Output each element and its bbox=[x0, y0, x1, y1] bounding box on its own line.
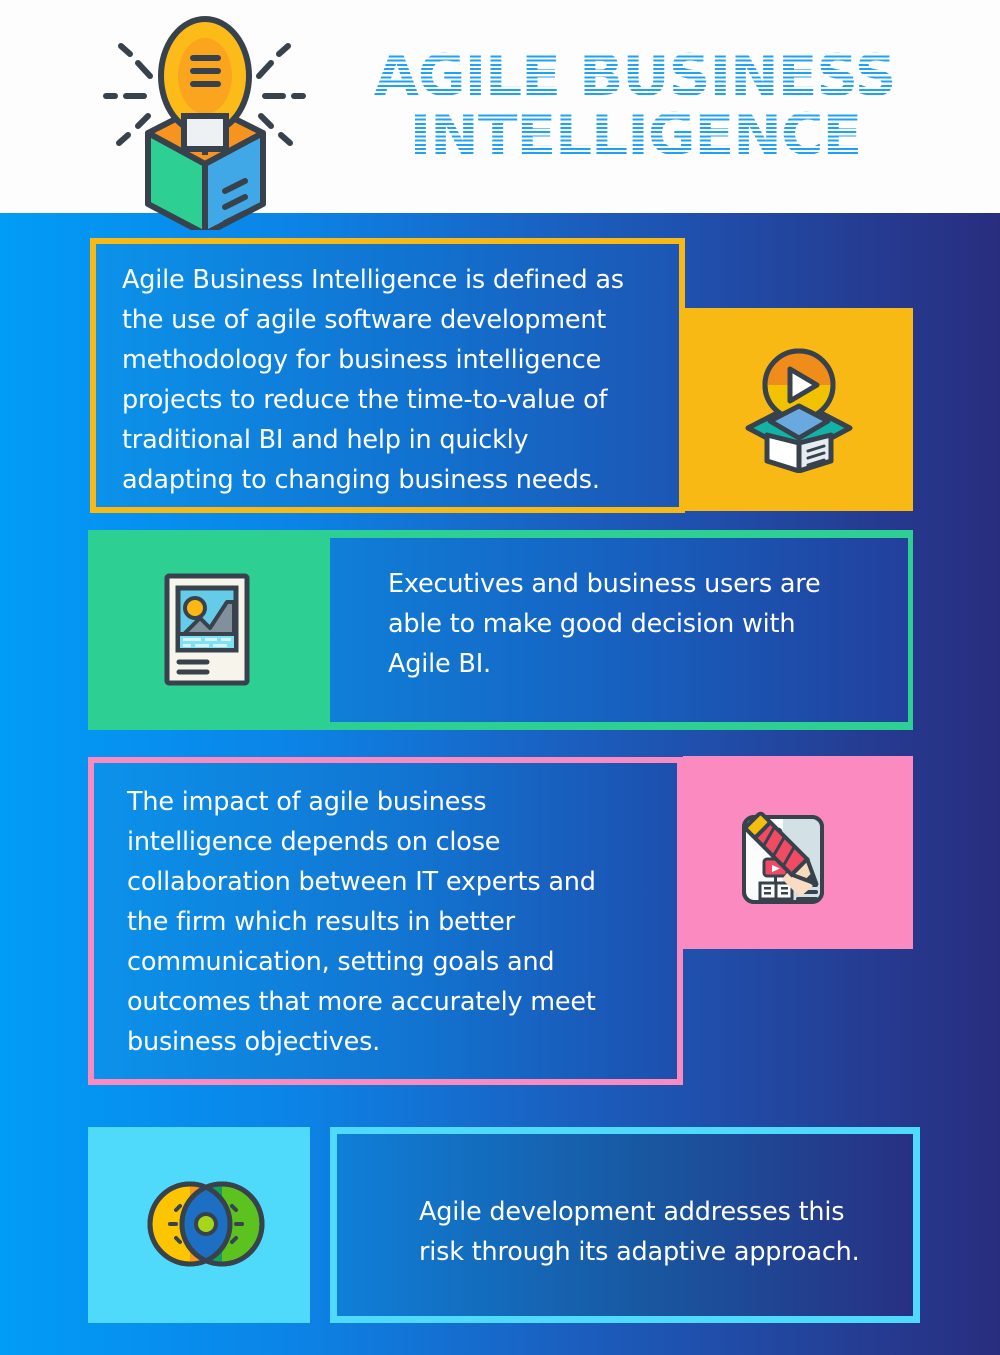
infographic-page: Agile Business Intelligence Agile Busine… bbox=[0, 0, 1000, 1355]
play-bulb-open-box-icon bbox=[740, 343, 858, 473]
impact-text-panel: The impact of agile business intelligenc… bbox=[88, 757, 683, 1085]
definition-text-panel: Agile Business Intelligence is defined a… bbox=[90, 238, 685, 513]
document-pencil-icon bbox=[738, 797, 850, 907]
title-line-1: Agile Business bbox=[374, 47, 896, 105]
venn-diagram-icon bbox=[146, 1172, 266, 1277]
impact-text: The impact of agile business intelligenc… bbox=[94, 763, 677, 1062]
adaptive-text: Agile development addresses this risk th… bbox=[337, 1134, 913, 1272]
definition-text: Agile Business Intelligence is defined a… bbox=[96, 244, 679, 500]
adaptive-text-panel: Agile development addresses this risk th… bbox=[330, 1127, 920, 1323]
lightbulb-in-box-icon bbox=[88, 8, 323, 230]
decision-text-panel: Executives and business users are able t… bbox=[325, 533, 913, 727]
decision-text: Executives and business users are able t… bbox=[330, 538, 908, 684]
page-title: Agile Business Intelligence bbox=[355, 38, 915, 173]
title-line-2: Intelligence bbox=[409, 106, 861, 164]
report-chart-document-icon bbox=[163, 572, 251, 687]
